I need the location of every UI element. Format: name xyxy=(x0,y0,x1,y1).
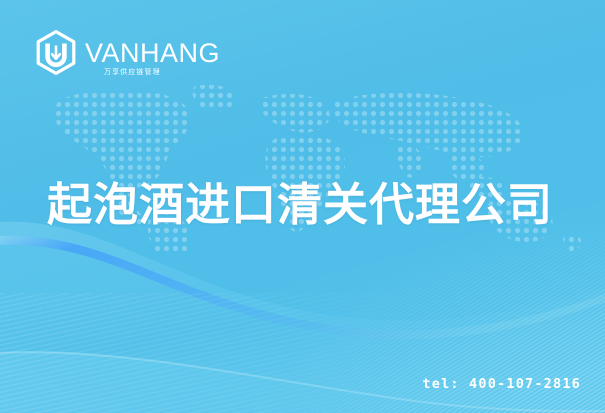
promo-banner: VANHANG 万享供应链管理 起泡酒进口清关代理公司 tel: 400-107… xyxy=(0,0,605,413)
brand-wordmark-text: VANHANG xyxy=(85,40,220,67)
hexagon-u-logo-icon xyxy=(35,30,77,76)
contact-phone[interactable]: tel: 400-107-2816 xyxy=(422,376,581,392)
page-title: 起泡酒进口清关代理公司 xyxy=(47,181,553,228)
brand-subtitle: 万享供应链管理 xyxy=(104,69,161,76)
brand-logo[interactable]: VANHANG 万享供应链管理 xyxy=(35,30,220,76)
brand-wordmark: VANHANG 万享供应链管理 xyxy=(85,40,220,67)
